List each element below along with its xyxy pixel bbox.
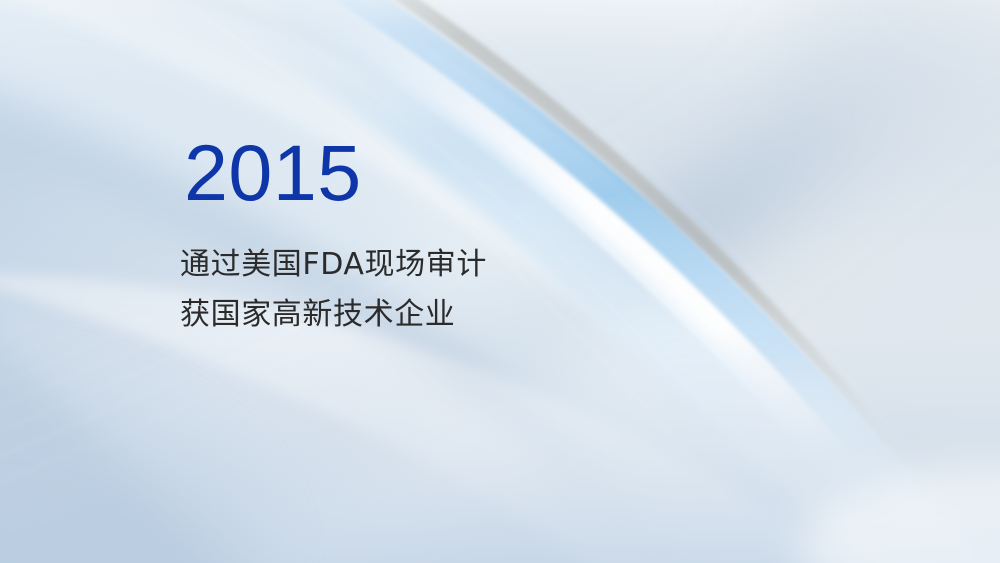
subtitle-block: 通过美国FDA现场审计 获国家高新技术企业: [180, 240, 487, 340]
background-ribbon-graphic: [0, 0, 1000, 563]
subtitle-line-2: 获国家高新技术企业: [180, 290, 487, 340]
background-artwork: [0, 0, 1000, 563]
slide-canvas: 2015 通过美国FDA现场审计 获国家高新技术企业: [0, 0, 1000, 563]
year-heading: 2015: [184, 132, 487, 214]
slide-text-block: 2015 通过美国FDA现场审计 获国家高新技术企业: [180, 132, 487, 340]
subtitle-line-1: 通过美国FDA现场审计: [180, 240, 487, 290]
